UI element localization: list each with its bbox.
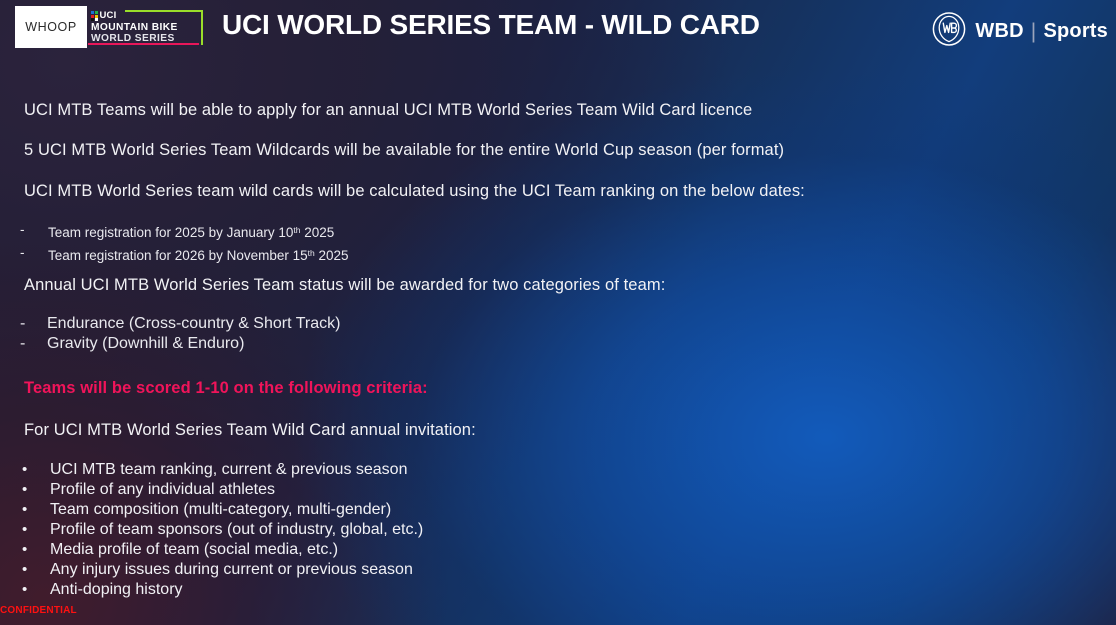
list-item: • Any injury issues during current or pr… (22, 560, 423, 580)
uci-logo-mark-text: UCI (100, 11, 117, 21)
category-label: Endurance (Cross-country & Short Track) (47, 314, 340, 334)
criteria-label: UCI MTB team ranking, current & previous… (50, 460, 407, 480)
whoop-logo-text: WHOOP (25, 20, 77, 34)
bullet-marker: • (22, 560, 50, 580)
criteria-bullet-list: • UCI MTB team ranking, current & previo… (22, 460, 423, 600)
ordinal-suffix: th (308, 248, 315, 258)
list-item: • Team composition (multi-category, mult… (22, 500, 423, 520)
list-item: • Media profile of team (social media, e… (22, 540, 423, 560)
uci-mtb-world-series-logo: UCI MOUNTAIN BIKE WORLD SERIES (87, 6, 209, 48)
category-label: Gravity (Downhill & Enduro) (47, 334, 244, 354)
bullet-marker: • (22, 480, 50, 500)
uci-mark-row: UCI (91, 11, 199, 22)
uci-logo-right-rule-lime (201, 10, 203, 45)
list-item: • Anti-doping history (22, 580, 423, 600)
wbd-name-text: WBD (975, 20, 1023, 43)
criteria-label: Media profile of team (social media, etc… (50, 540, 338, 560)
slide-canvas: WHOOP UCI MOUNTAIN BIKE WORLD SERIES (0, 0, 1116, 625)
whoop-uci-logo-lockup: WHOOP UCI MOUNTAIN BIKE WORLD SERIES (15, 6, 209, 48)
wbd-sports-logo: WBD | Sports (932, 12, 1108, 51)
dash-marker: - (20, 220, 48, 243)
bullet-marker: • (22, 580, 50, 600)
list-item: - Team registration for 2026 by November… (20, 243, 349, 266)
page-title: UCI WORLD SERIES TEAM - WILD CARD (222, 9, 760, 41)
list-item: • Profile of team sponsors (out of indus… (22, 520, 423, 540)
list-item: • UCI MTB team ranking, current & previo… (22, 460, 423, 480)
criteria-label: Profile of any individual athletes (50, 480, 275, 500)
registration-dates-list: - Team registration for 2025 by January … (20, 220, 349, 266)
paragraph-wildcards: 5 UCI MTB World Series Team Wildcards wi… (24, 141, 784, 160)
paragraph-invitation: For UCI MTB World Series Team Wild Card … (24, 421, 476, 440)
criteria-label: Team composition (multi-category, multi-… (50, 500, 391, 520)
dash-marker: - (20, 314, 47, 334)
list-item: • Profile of any individual athletes (22, 480, 423, 500)
dash-marker: - (20, 243, 48, 266)
bullet-marker: • (22, 500, 50, 520)
slide-header: WHOOP UCI MOUNTAIN BIKE WORLD SERIES (0, 0, 1116, 56)
whoop-logo: WHOOP (15, 6, 87, 48)
bullet-marker: • (22, 460, 50, 480)
uci-logo-top-rule-lime (125, 10, 201, 12)
uci-rainbow-swatches-icon (91, 11, 98, 21)
list-item: - Team registration for 2025 by January … (20, 220, 349, 243)
date-text: Team registration for 2025 by January 10… (48, 220, 334, 243)
team-categories-list: - Endurance (Cross-country & Short Track… (20, 314, 340, 354)
scoring-criteria-heading: Teams will be scored 1-10 on the followi… (24, 379, 428, 398)
warner-bros-shield-icon (932, 12, 966, 51)
dash-marker: - (20, 334, 47, 354)
date-text: Team registration for 2026 by November 1… (48, 243, 349, 266)
wbd-sports-wordmark: WBD | Sports (975, 20, 1108, 43)
uci-logo-line-world-series: WORLD SERIES (91, 33, 201, 44)
criteria-label: Profile of team sponsors (out of industr… (50, 520, 423, 540)
paragraph-calculation: UCI MTB World Series team wild cards wil… (24, 182, 805, 201)
paragraph-intro: UCI MTB Teams will be able to apply for … (24, 101, 752, 120)
criteria-label: Any injury issues during current or prev… (50, 560, 413, 580)
uci-logo-line-mountain-bike: MOUNTAIN BIKE (91, 22, 201, 33)
wbd-unit-text: Sports (1043, 20, 1108, 43)
bullet-marker: • (22, 520, 50, 540)
list-item: - Endurance (Cross-country & Short Track… (20, 314, 340, 334)
confidential-watermark: CONFIDENTIAL (0, 605, 77, 616)
bullet-marker: • (22, 540, 50, 560)
list-item: - Gravity (Downhill & Enduro) (20, 334, 340, 354)
criteria-label: Anti-doping history (50, 580, 183, 600)
wbd-divider: | (1031, 22, 1037, 42)
paragraph-categories: Annual UCI MTB World Series Team status … (24, 276, 665, 295)
